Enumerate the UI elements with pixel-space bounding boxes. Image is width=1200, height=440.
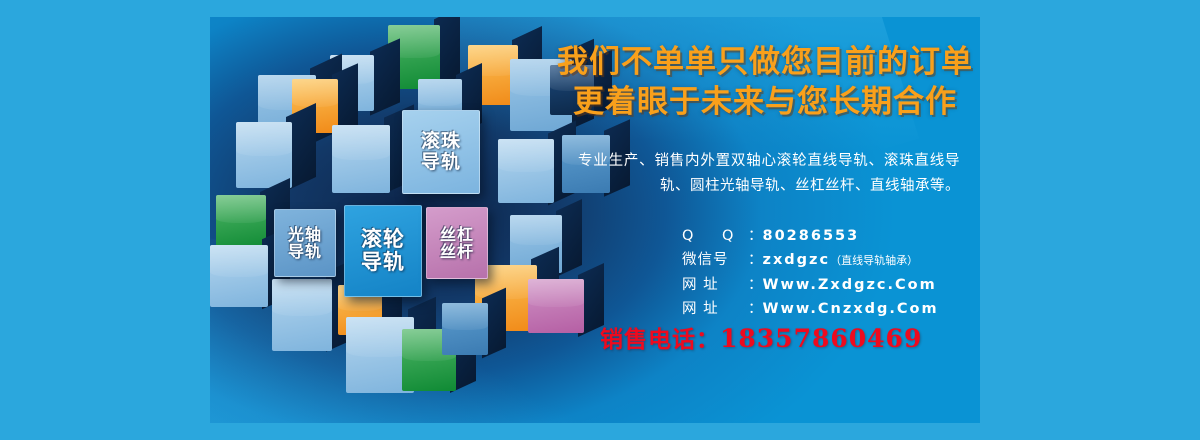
product-label-line2: 导轨 xyxy=(361,251,405,274)
cube-decoration xyxy=(272,279,332,351)
cube-decoration xyxy=(236,122,292,188)
cube-decoration xyxy=(216,195,266,249)
website-2-label: 网 址 xyxy=(682,297,748,321)
cube-decoration xyxy=(332,125,390,193)
website-1-separator: ： xyxy=(748,277,763,293)
promotional-banner: 滚珠 导轨 光轴 导轨 滚轮 导轨 丝杠 丝杆 我们不单单只做您目前的订单 更着… xyxy=(0,0,1200,440)
product-label-line1: 滚珠 xyxy=(421,131,461,152)
wechat-value: zxdgzc xyxy=(763,252,831,268)
contact-row-qq: Q Q：80286553 xyxy=(682,224,980,248)
product-label-gunlun-daogui: 滚轮 导轨 xyxy=(344,205,422,297)
contact-info-block: Q Q：80286553 微信号：zxdgzc（直线导轨轴承） 网 址：Www.… xyxy=(682,224,980,321)
website-1-value[interactable]: Www.Zxdgzc.Com xyxy=(763,277,937,293)
product-label-line2: 导轨 xyxy=(421,152,461,173)
headline: 我们不单单只做您目前的订单 更着眼于未来与您长期合作 xyxy=(550,42,980,123)
sales-phone-number: 18357860469 xyxy=(720,324,922,353)
contact-row-wechat: 微信号：zxdgzc（直线导轨轴承） xyxy=(682,248,980,272)
website-1-label: 网 址 xyxy=(682,273,748,297)
qq-separator: ： xyxy=(748,228,763,244)
qq-value: 80286553 xyxy=(763,228,860,244)
wechat-note: （直线导轨轴承） xyxy=(830,254,918,267)
product-label-sigang-sigan: 丝杠 丝杆 xyxy=(426,207,488,279)
website-2-value[interactable]: Www.Cnzxdg.Com xyxy=(763,301,939,317)
banner-text-column: 我们不单单只做您目前的订单 更着眼于未来与您长期合作 专业生产、销售内外置双轴心… xyxy=(550,17,980,423)
company-description: 专业生产、销售内外置双轴心滚轮直线导轨、滚珠直线导轨、圆柱光轴导轨、丝杠丝杆、直… xyxy=(578,149,960,199)
product-label-line1: 滚轮 xyxy=(361,228,405,251)
cube-decoration xyxy=(210,245,268,307)
contact-row-website-2: 网 址：Www.Cnzxdg.Com xyxy=(682,297,980,321)
wechat-label: 微信号 xyxy=(682,248,748,272)
product-label-line1: 丝杠 xyxy=(440,226,474,243)
product-label-guangzhou-daogui: 光轴 导轨 xyxy=(274,209,336,277)
website-2-separator: ： xyxy=(748,301,763,317)
headline-line-2: 更着眼于未来与您长期合作 xyxy=(550,82,980,122)
wechat-separator: ： xyxy=(748,252,763,268)
headline-line-1: 我们不单单只做您目前的订单 xyxy=(550,42,980,82)
contact-row-website-1: 网 址：Www.Zxdgzc.Com xyxy=(682,273,980,297)
cube-decoration xyxy=(442,303,488,355)
sales-phone-label: 销售电话： xyxy=(600,327,720,353)
banner-panel: 滚珠 导轨 光轴 导轨 滚轮 导轨 丝杠 丝杆 我们不单单只做您目前的订单 更着… xyxy=(210,17,980,423)
product-label-gunzhu-daogui: 滚珠 导轨 xyxy=(402,110,480,194)
sales-phone: 销售电话：18357860469 xyxy=(600,320,980,354)
product-label-line1: 光轴 xyxy=(288,226,322,243)
qq-label: Q Q xyxy=(682,224,748,248)
product-label-line2: 导轨 xyxy=(288,243,322,260)
cube-decoration xyxy=(498,139,554,203)
product-label-line2: 丝杆 xyxy=(440,243,474,260)
